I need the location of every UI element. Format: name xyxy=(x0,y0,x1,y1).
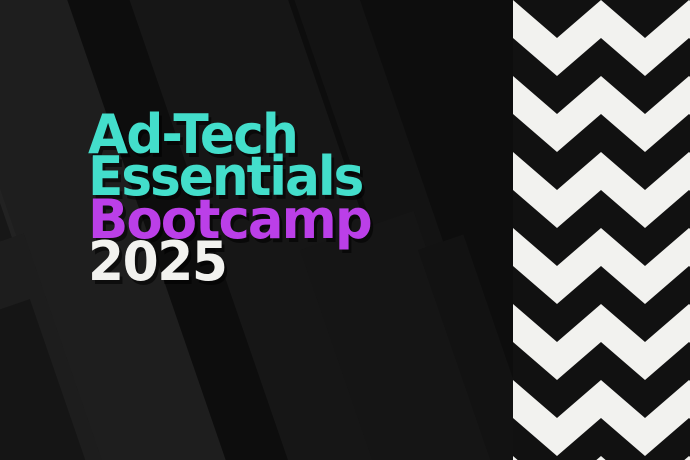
zigzag-svg xyxy=(513,0,690,460)
headline-line-year: 2025 xyxy=(88,239,365,285)
poster-headline: Ad-Tech Essentials Bootcamp 2025 xyxy=(88,112,377,286)
poster-canvas: Ad-Tech Essentials Bootcamp 2025 xyxy=(0,0,690,460)
zigzag-chevron-pattern xyxy=(513,0,690,460)
